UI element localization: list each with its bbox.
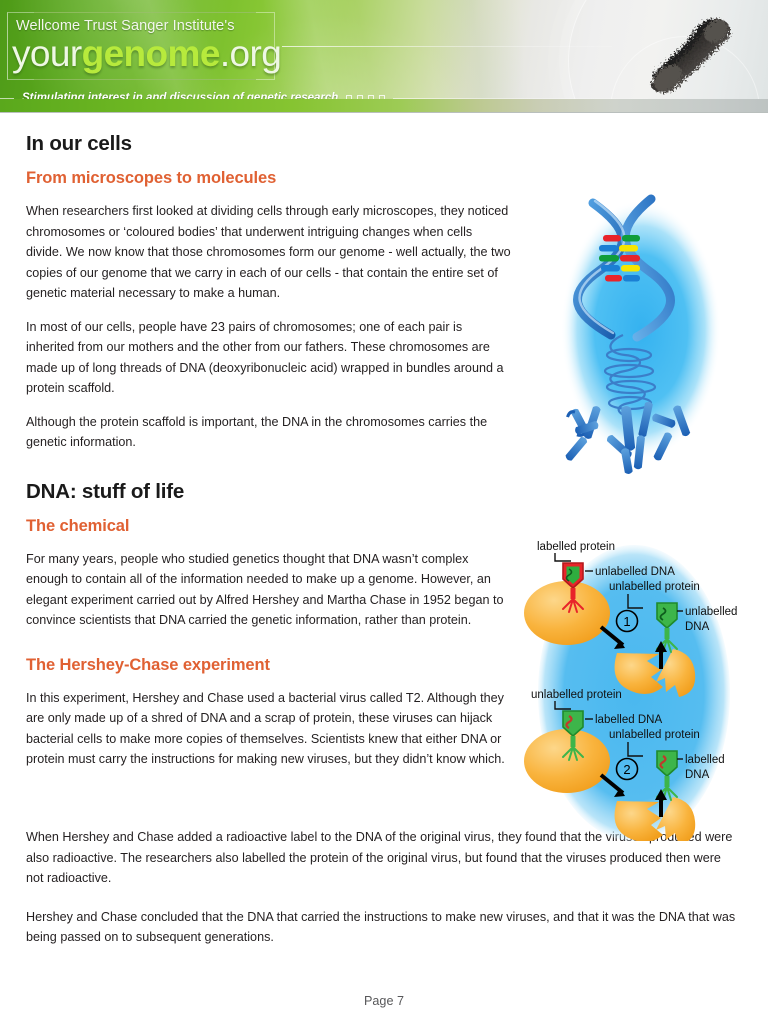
- subheading-the-chemical: The chemical: [26, 517, 512, 536]
- banner-bottom-band: [0, 99, 768, 113]
- subheading-hershey-chase-experiment: The Hershey-Chase experiment: [26, 656, 512, 675]
- label-dna: DNA: [685, 621, 710, 633]
- chromosome-icon: [638, 4, 748, 104]
- left-text-column: In our cells From microscopes to molecul…: [26, 113, 512, 770]
- paragraph: Hershey and Chase concluded that the DNA…: [26, 907, 740, 948]
- paragraph: In this experiment, Hershey and Chase us…: [26, 688, 512, 770]
- document-content: In our cells From microscopes to molecul…: [0, 113, 768, 1024]
- paragraph: Although the protein scaffold is importa…: [26, 412, 512, 453]
- hershey-chase-experiment-diagram: labelled protein unlabelled DNA 1: [505, 541, 763, 841]
- site-logo[interactable]: yourgenome.org: [12, 33, 281, 75]
- full-width-text-column: When Hershey and Chase added a radioacti…: [26, 827, 742, 948]
- logo-your: your: [12, 33, 82, 74]
- subheading-from-microscopes: From microscopes to molecules: [26, 169, 512, 188]
- step-number: 1: [623, 614, 630, 629]
- page-number: Page 7: [0, 994, 768, 1008]
- dna-helix-and-chromosomes-illustration: [533, 185, 749, 475]
- label-unlabelled-protein: unlabelled protein: [531, 689, 622, 701]
- step-number: 2: [623, 762, 630, 777]
- label-unlabelled: unlabelled: [685, 606, 737, 618]
- page: Wellcome Trust Sanger Institute's yourge…: [0, 0, 768, 1024]
- label-dna: DNA: [685, 769, 710, 781]
- label-unlabelled-protein: unlabelled protein: [609, 581, 700, 593]
- label-unlabelled-protein: unlabelled protein: [609, 729, 700, 741]
- paragraph: When researchers first looked at dividin…: [26, 201, 512, 304]
- institute-name: Wellcome Trust Sanger Institute's: [16, 18, 235, 34]
- section-heading-in-our-cells: In our cells: [26, 132, 512, 156]
- label-labelled-dna: labelled DNA: [595, 714, 662, 726]
- logo-horizontal-rule: [282, 46, 612, 47]
- logo-org: .org: [220, 33, 281, 74]
- bacterium: [524, 581, 610, 645]
- paragraph: In most of our cells, people have 23 pai…: [26, 317, 512, 399]
- leader-line: [555, 553, 571, 561]
- label-labelled: labelled: [685, 754, 725, 766]
- section-heading-dna-stuff-of-life: DNA: stuff of life: [26, 480, 512, 504]
- bacterium: [524, 729, 610, 793]
- site-banner: Wellcome Trust Sanger Institute's yourge…: [0, 0, 768, 113]
- paragraph: For many years, people who studied genet…: [26, 549, 512, 631]
- logo-genome: genome: [82, 33, 220, 74]
- label-unlabelled-dna: unlabelled DNA: [595, 566, 675, 578]
- label-labelled-protein: labelled protein: [537, 541, 615, 553]
